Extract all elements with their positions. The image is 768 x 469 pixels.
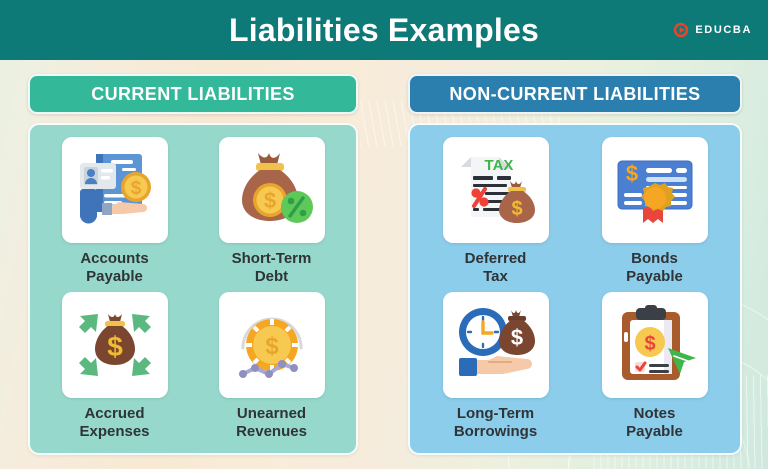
bond-certificate-seal-icon: $ bbox=[612, 149, 698, 231]
educba-logo-icon bbox=[672, 21, 690, 39]
item-short-term-debt[interactable]: $ Short-Term Debt bbox=[197, 137, 346, 288]
tax-document-money-bag-icon: TAX bbox=[453, 149, 539, 231]
invoice-hand-coin-icon: $ bbox=[72, 149, 158, 231]
item-notes-payable[interactable]: $ Notes Payable bbox=[579, 292, 730, 443]
item-bonds-payable[interactable]: $ bbox=[579, 137, 730, 288]
column-noncurrent-liabilities: NON-CURRENT LIABILITIES TAX bbox=[408, 74, 742, 455]
svg-text:$: $ bbox=[130, 178, 141, 199]
clipboard-coin-cursor-icon: $ bbox=[612, 304, 698, 386]
infographic-page: Liabilities Examples EDUCBA CURRENT LIAB… bbox=[0, 0, 768, 469]
item-accounts-payable[interactable]: $ Accounts Payable bbox=[40, 137, 189, 288]
money-bag-arrows-icon: $ bbox=[72, 304, 158, 386]
item-accrued-expenses[interactable]: $ Accrued Expenses bbox=[40, 292, 189, 443]
item-label: Short-Term Debt bbox=[232, 250, 312, 285]
panel-current-liabilities: $ Accounts Payable $ bbox=[28, 123, 358, 455]
svg-text:$: $ bbox=[511, 198, 522, 220]
page-header: Liabilities Examples EDUCBA bbox=[0, 0, 768, 60]
column-header-current: CURRENT LIABILITIES bbox=[28, 74, 358, 114]
icon-card: $ bbox=[602, 137, 708, 243]
item-label: Accounts Payable bbox=[80, 250, 148, 285]
svg-text:TAX: TAX bbox=[484, 157, 513, 174]
icon-card: $ bbox=[602, 292, 708, 398]
item-unearned-revenues[interactable]: $ Unearned Revenues bbox=[197, 292, 346, 443]
icon-card: $ bbox=[219, 292, 325, 398]
brand-name: EDUCBA bbox=[695, 24, 752, 36]
panel-noncurrent-liabilities: TAX bbox=[408, 123, 742, 455]
item-long-term-borrowings[interactable]: $ Long-Term Borrowings bbox=[420, 292, 571, 443]
clock-money-bag-hand-icon: $ bbox=[453, 304, 539, 386]
item-label: Long-Term Borrowings bbox=[454, 405, 537, 440]
item-label: Notes Payable bbox=[626, 405, 683, 440]
svg-text:$: $ bbox=[644, 333, 655, 355]
icon-card: $ bbox=[219, 137, 325, 243]
svg-text:$: $ bbox=[510, 325, 522, 350]
icon-card: $ bbox=[443, 292, 549, 398]
item-label: Bonds Payable bbox=[626, 250, 683, 285]
item-label: Accrued Expenses bbox=[79, 405, 149, 440]
svg-text:$: $ bbox=[107, 331, 123, 362]
svg-text:$: $ bbox=[265, 333, 279, 360]
svg-text:$: $ bbox=[263, 188, 275, 213]
page-title: Liabilities Examples bbox=[229, 0, 539, 60]
coin-line-chart-icon: $ bbox=[229, 304, 315, 386]
brand-logo: EDUCBA bbox=[672, 21, 752, 39]
column-current-liabilities: CURRENT LIABILITIES bbox=[28, 74, 358, 455]
icon-card: TAX bbox=[443, 137, 549, 243]
column-header-noncurrent: NON-CURRENT LIABILITIES bbox=[408, 74, 742, 114]
icon-card: $ bbox=[62, 137, 168, 243]
item-label: Deferred Tax bbox=[465, 250, 527, 285]
money-bag-percent-icon: $ bbox=[229, 149, 315, 231]
icon-card: $ bbox=[62, 292, 168, 398]
item-deferred-tax[interactable]: TAX bbox=[420, 137, 571, 288]
item-label: Unearned Revenues bbox=[236, 405, 307, 440]
svg-text:$: $ bbox=[625, 161, 637, 186]
